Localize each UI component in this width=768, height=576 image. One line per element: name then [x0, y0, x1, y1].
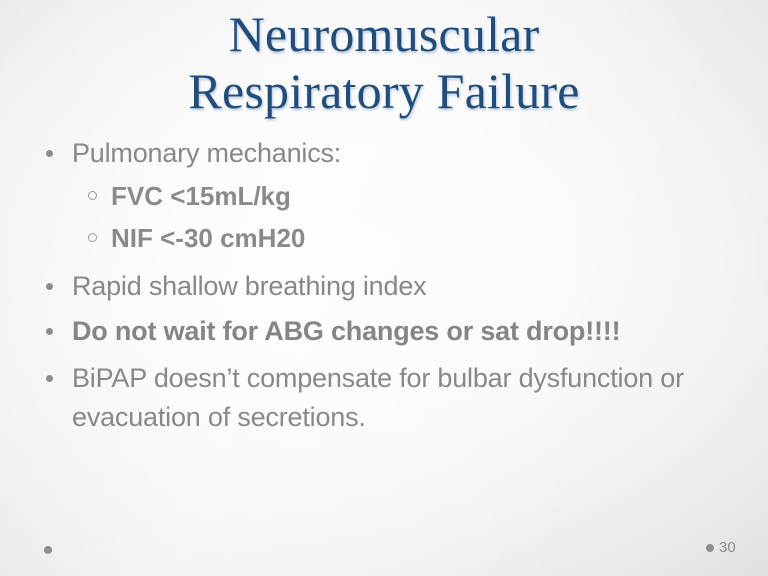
bullet-text: Pulmonary mechanics: [72, 138, 341, 168]
sub-bullet-text: FVC <15mL/kg [111, 181, 291, 211]
page-number-group: 30 [706, 540, 736, 555]
slide-body: Pulmonary mechanics: FVC <15mL/kg NIF <-… [38, 134, 738, 439]
sub-bullet-text: NIF <-30 cmH20 [111, 223, 305, 253]
footer-dot-icon [44, 546, 52, 554]
bullet-text: Rapid shallow breathing index [72, 271, 426, 301]
page-number: 30 [719, 540, 736, 555]
sub-bullet-item: NIF <-30 cmH20 [38, 217, 738, 259]
bullet-dot-icon [46, 328, 53, 335]
bullet-dot-icon [46, 150, 53, 157]
bullet-text: Do not wait for ABG changes or sat drop!… [72, 316, 620, 346]
slide-canvas: Neuromuscular Respiratory Failure Pulmon… [0, 0, 768, 576]
bullet-item: Do not wait for ABG changes or sat drop!… [38, 312, 738, 351]
bullet-text: BiPAP doesn’t compensate for bulbar dysf… [72, 363, 684, 432]
bullet-dot-icon [46, 375, 53, 382]
bullet-item: BiPAP doesn’t compensate for bulbar dysf… [38, 359, 738, 437]
slide-title: Neuromuscular Respiratory Failure [0, 6, 768, 120]
bullet-item: Pulmonary mechanics: [38, 134, 738, 173]
bullet-dot-icon [46, 283, 53, 290]
page-number-dot-icon [706, 544, 714, 552]
sub-bullet-item: FVC <15mL/kg [38, 175, 738, 217]
bullet-item: Rapid shallow breathing index [38, 267, 738, 306]
hollow-circle-icon [88, 233, 97, 242]
hollow-circle-icon [88, 191, 97, 200]
